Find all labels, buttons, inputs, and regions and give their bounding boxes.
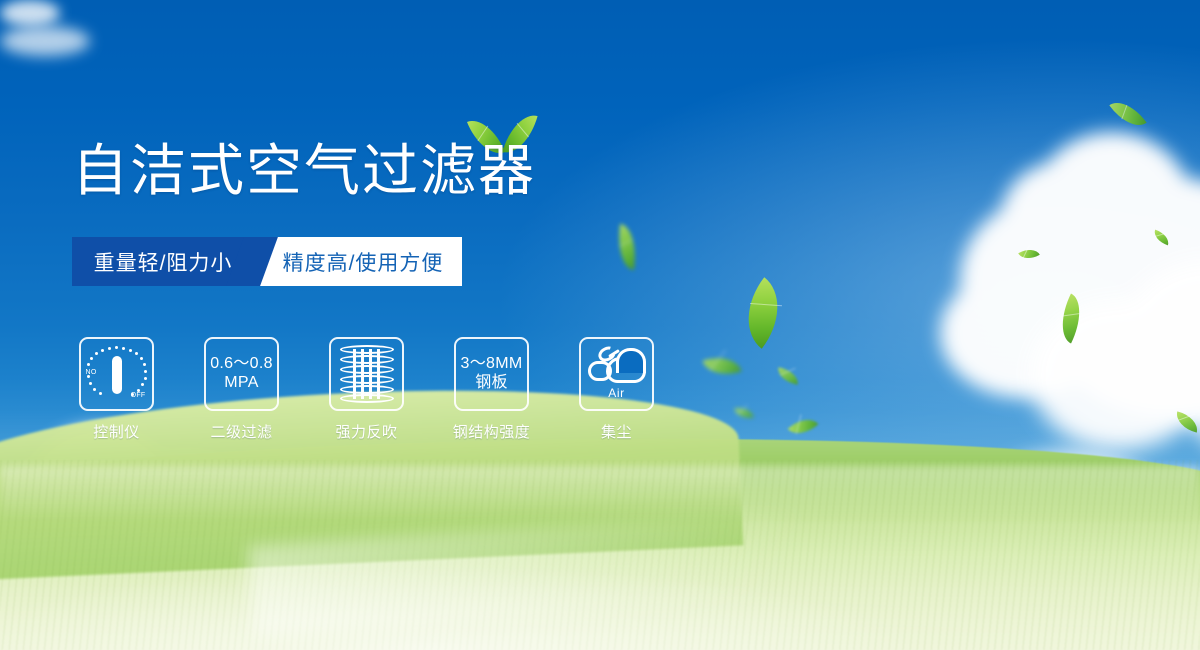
feature-icon-box: 0.6～0.8 MPA — [204, 337, 279, 411]
cumulus-cloud-right-lower — [1030, 250, 1200, 470]
feature-label: 集尘 — [601, 421, 632, 442]
filter-cartridge-icon — [340, 345, 394, 403]
cloud-air-icon — [588, 349, 646, 383]
feature-label: 控制仪 — [93, 421, 140, 442]
feature-item-pulse-jet[interactable]: 强力反吹 — [329, 337, 404, 442]
cloud-wisp — [0, 26, 90, 56]
floating-leaf — [734, 406, 753, 420]
pressure-text-icon: 0.6～0.8 MPA — [210, 355, 273, 393]
feature-item-steel-strength[interactable]: 3～8MM 钢板 钢结构强度 — [454, 337, 529, 442]
feature-label: 强力反吹 — [335, 421, 397, 442]
steel-thickness: 3～8MM — [461, 355, 523, 372]
cloud-shape-main — [606, 357, 646, 383]
feature-item-control-panel[interactable]: NO OFF — [79, 337, 154, 442]
cloud-shape-small — [588, 361, 612, 381]
feature-icon-box: 3～8MM 钢板 — [454, 337, 529, 411]
feature-label: 二级过滤 — [210, 421, 272, 442]
subtitle-right-segment: 精度高/使用方便 — [252, 237, 462, 286]
grass-sunlight-glow — [0, 500, 1200, 650]
product-hero-banner: 自洁式空气过滤器 重量轻/阻力小 精度高/使用方便 NO OFF — [0, 0, 1200, 650]
feature-label: 钢结构强度 — [453, 421, 531, 442]
feature-item-two-stage-filter[interactable]: 0.6～0.8 MPA 二级过滤 — [204, 337, 279, 442]
subtitle-bar: 重量轻/阻力小 精度高/使用方便 — [72, 237, 462, 286]
dial-switch-bar — [112, 356, 122, 394]
cloud-wisp — [0, 0, 60, 26]
feature-icon-box: NO OFF — [79, 337, 154, 411]
subtitle-left-segment: 重量轻/阻力小 — [72, 237, 252, 286]
dial-gauge-icon: NO OFF — [87, 345, 147, 403]
feature-item-dust-collection[interactable]: Air 集尘 — [579, 337, 654, 442]
pressure-unit: MPA — [210, 374, 273, 393]
page-title: 自洁式空气过滤器 — [72, 143, 536, 199]
air-label: Air — [608, 386, 624, 400]
pressure-range: 0.6～0.8 — [210, 355, 273, 372]
feature-list: NO OFF — [79, 337, 654, 442]
steel-plate-text-icon: 3～8MM 钢板 — [461, 355, 523, 393]
steel-material: 钢板 — [461, 374, 523, 393]
feature-icon-box — [329, 337, 404, 411]
feature-icon-box: Air — [579, 337, 654, 411]
